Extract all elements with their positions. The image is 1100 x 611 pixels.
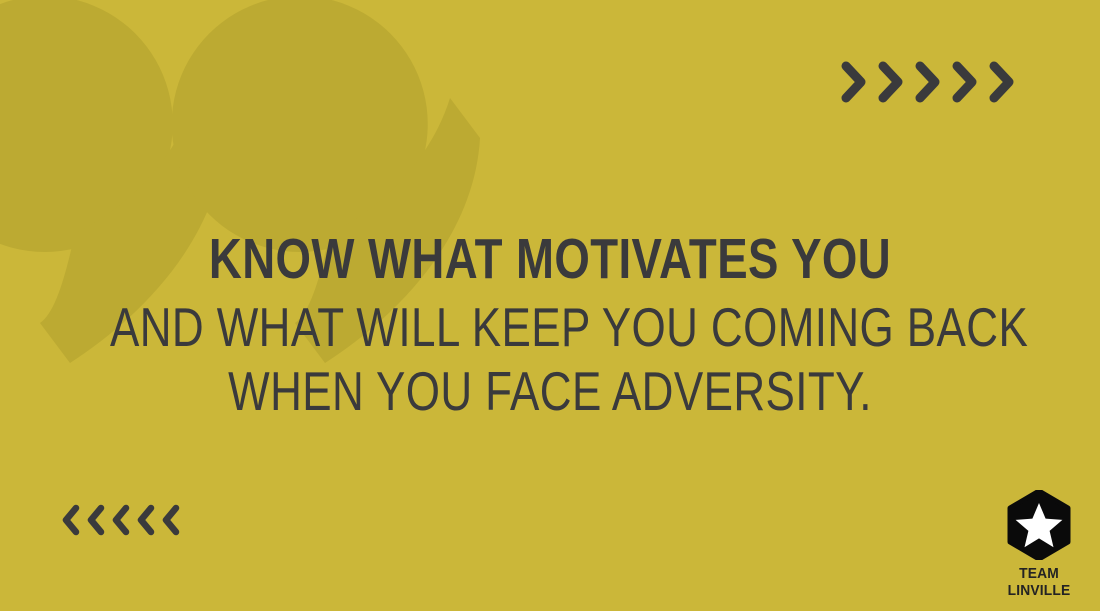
- quote-subline-2: WHEN YOU FACE ADVERSITY.: [110, 359, 990, 423]
- chevron-left-icon: [112, 503, 131, 537]
- chevron-right-icon: [878, 60, 904, 104]
- chevron-left-icon: [62, 503, 81, 537]
- chevron-left-group: [62, 503, 181, 537]
- chevron-right-icon: [989, 60, 1015, 104]
- brand-logo: TEAM LINVILLE: [984, 490, 1094, 599]
- quote-text-block: KNOW WHAT MOTIVATES YOU AND WHAT WILL KE…: [0, 228, 1100, 423]
- chevron-right-group: [841, 60, 1015, 104]
- chevron-right-icon: [952, 60, 978, 104]
- chevron-left-icon: [87, 503, 106, 537]
- chevron-right-icon: [841, 60, 867, 104]
- chevron-left-icon: [162, 503, 181, 537]
- logo-wordmark: TEAM LINVILLE: [988, 565, 1089, 599]
- chevron-left-icon: [137, 503, 156, 537]
- chevron-right-icon: [915, 60, 941, 104]
- quote-slide: KNOW WHAT MOTIVATES YOU AND WHAT WILL KE…: [0, 0, 1100, 611]
- quote-subline-1: AND WHAT WILL KEEP YOU COMING BACK: [110, 295, 990, 359]
- hexagon-star-icon: [1007, 490, 1071, 560]
- quote-headline: KNOW WHAT MOTIVATES YOU: [110, 228, 990, 290]
